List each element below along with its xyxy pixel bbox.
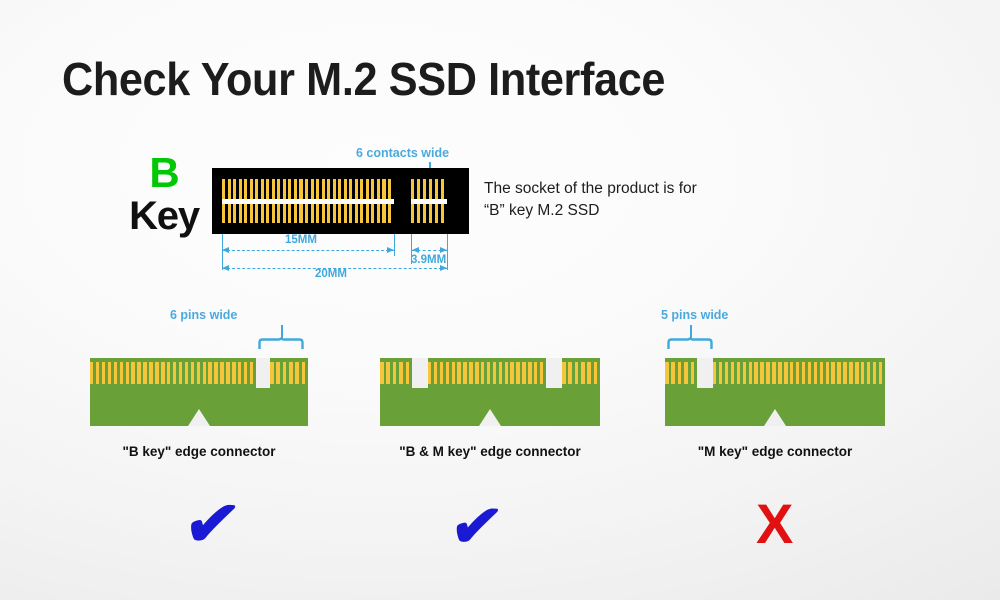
pcb-pin [540, 362, 543, 384]
pcb-alignment-notch [764, 409, 786, 426]
pcb-pin [214, 362, 217, 384]
pcb-pin [855, 362, 858, 384]
pcb-pin [406, 362, 410, 384]
dim-20mm-label: 20MM [312, 268, 350, 280]
pcb-pin [137, 362, 140, 384]
socket-contacts-annotation: 6 contacts wide [356, 146, 449, 160]
pcb-pin [126, 362, 129, 384]
pcb-pin [143, 362, 146, 384]
pcb-pin-strip [562, 362, 600, 384]
pcb-pin [463, 362, 466, 384]
pcb-pin [457, 362, 460, 384]
pcb-pin [749, 362, 752, 384]
pcb-pin [849, 362, 852, 384]
pcb-pin [238, 362, 241, 384]
pcb-pin [568, 362, 572, 384]
pcb-pin [393, 362, 397, 384]
pcb-pin [475, 362, 478, 384]
pcb-pin [665, 362, 669, 384]
pcb-pin [102, 362, 105, 384]
pcb-pin [873, 362, 876, 384]
pcb-pin [191, 362, 194, 384]
pcb-pin-strip [380, 362, 412, 384]
pcb-pin [250, 362, 253, 384]
pcb-pin [155, 362, 158, 384]
pcb-pin [802, 362, 805, 384]
pcb-pin [808, 362, 811, 384]
pcb-pin [161, 362, 164, 384]
pcb-pin [295, 362, 299, 384]
pcb-pin [731, 362, 734, 384]
socket-right-row-divider [411, 199, 447, 204]
pcb-pin [440, 362, 443, 384]
pcb-pin [575, 362, 579, 384]
pcb-pin [380, 362, 384, 384]
verdict-mark-b-key: ✔ [180, 494, 243, 556]
pcb-pin [861, 362, 864, 384]
pcb-pin [179, 362, 182, 384]
pcb-pin-strip [270, 362, 308, 384]
dim-15mm-label: 15MM [282, 234, 320, 246]
pcb-pin [814, 362, 817, 384]
pcb-pin [879, 362, 882, 384]
page-title: Check Your M.2 SSD Interface [62, 52, 665, 106]
pcb-pin [173, 362, 176, 384]
ext-line-b [394, 234, 395, 256]
pcb-pin [713, 362, 716, 384]
pcb-pin [289, 362, 293, 384]
pcb-pin [481, 362, 484, 384]
pcb-pin [594, 362, 598, 384]
pcb-pin [270, 362, 274, 384]
pcb-key-notch [256, 358, 270, 388]
socket-left-row-divider [222, 199, 394, 204]
edge-connector-m-key[interactable] [665, 358, 885, 426]
connector-pin-brace-b-key [258, 337, 304, 350]
b-key-word: Key [118, 193, 210, 239]
pcb-pin [796, 362, 799, 384]
pcb-pin [232, 362, 235, 384]
pcb-pin [510, 362, 513, 384]
pcb-pin [772, 362, 775, 384]
connector-pin-annotation-m-key: 5 pins wide [661, 308, 728, 322]
pcb-pin [766, 362, 769, 384]
pcb-pin [505, 362, 508, 384]
pcb-pin [743, 362, 746, 384]
pcb-pin [283, 362, 287, 384]
pcb-alignment-notch [188, 409, 210, 426]
b-key-letter: B [118, 152, 210, 193]
pcb-pin [581, 362, 585, 384]
pcb-pin [244, 362, 247, 384]
pcb-pin [487, 362, 490, 384]
slide-canvas: Check Your M.2 SSD Interface B Key 6 con… [0, 0, 1000, 600]
pcb-pin [167, 362, 170, 384]
pcb-pin [528, 362, 531, 384]
pcb-pin [516, 362, 519, 384]
pcb-pin [820, 362, 823, 384]
connector-caption-m-key: "M key" edge connector [645, 444, 905, 459]
pcb-pin [562, 362, 566, 384]
pcb-pin [226, 362, 229, 384]
pcb-pin [684, 362, 688, 384]
pcb-pin [831, 362, 834, 384]
pcb-pin [522, 362, 525, 384]
pcb-pin [434, 362, 437, 384]
pcb-pin [108, 362, 111, 384]
socket-diagram: 6 contacts wide 15MM [212, 168, 469, 234]
socket-description-line1: The socket of the product is for [484, 178, 697, 200]
socket-body [212, 168, 469, 234]
pcb-pin [760, 362, 763, 384]
pcb-pin [493, 362, 496, 384]
verdict-mark-b-and-m-key: ✔ [447, 498, 506, 556]
pcb-pin [197, 362, 200, 384]
pcb-pin [452, 362, 455, 384]
pcb-pin [446, 362, 449, 384]
pcb-pin [302, 362, 306, 384]
pcb-key-notch [697, 358, 713, 388]
pcb-pin [208, 362, 211, 384]
dim-15mm-row [222, 250, 394, 251]
pcb-pin [534, 362, 537, 384]
pcb-pin [120, 362, 123, 384]
pcb-pin [737, 362, 740, 384]
verdict-mark-m-key: X [756, 496, 793, 552]
pcb-key-notch [412, 358, 428, 388]
connector-caption-b-and-m-key: "B & M key" edge connector [360, 444, 620, 459]
pcb-pin [499, 362, 502, 384]
pcb-pin [386, 362, 390, 384]
pcb-pin [826, 362, 829, 384]
pcb-pin-strip [665, 362, 697, 384]
pcb-pin [778, 362, 781, 384]
dim-39mm-row [412, 250, 447, 251]
connector-pin-brace-m-key [667, 337, 713, 350]
connector-pin-annotation-b-key: 6 pins wide [170, 308, 237, 322]
pcb-pin [469, 362, 472, 384]
edge-connector-b-and-m-key[interactable] [380, 358, 600, 426]
pcb-pin [784, 362, 787, 384]
pcb-board [665, 358, 885, 426]
socket-description: The socket of the product is for “B” key… [484, 178, 697, 223]
pcb-pin [131, 362, 134, 384]
b-key-label: B Key [118, 152, 210, 239]
pcb-key-notch [546, 358, 562, 388]
pcb-pin [671, 362, 675, 384]
pcb-pin [90, 362, 93, 384]
connector-caption-b-key: "B key" edge connector [69, 444, 329, 459]
pcb-pin [725, 362, 728, 384]
pcb-pin [867, 362, 870, 384]
pcb-board [380, 358, 600, 426]
pcb-pin [719, 362, 722, 384]
pcb-pin [843, 362, 846, 384]
pcb-pin [203, 362, 206, 384]
pcb-pin [428, 362, 431, 384]
pcb-pin [587, 362, 591, 384]
pcb-board [90, 358, 308, 426]
pcb-pin [114, 362, 117, 384]
pcb-pin-strip [90, 362, 256, 384]
pcb-pin [691, 362, 695, 384]
pcb-pin [678, 362, 682, 384]
pcb-pin-strip [428, 362, 546, 384]
pcb-alignment-notch [479, 409, 501, 426]
pcb-pin [276, 362, 280, 384]
pcb-pin [399, 362, 403, 384]
pcb-pin [790, 362, 793, 384]
pcb-pin [149, 362, 152, 384]
socket-description-line2: “B” key M.2 SSD [484, 200, 697, 222]
pcb-pin [837, 362, 840, 384]
pcb-pin [220, 362, 223, 384]
edge-connector-b-key[interactable] [90, 358, 308, 426]
pcb-pin-strip [713, 362, 885, 384]
pcb-pin [754, 362, 757, 384]
pcb-pin [185, 362, 188, 384]
pcb-pin [96, 362, 99, 384]
